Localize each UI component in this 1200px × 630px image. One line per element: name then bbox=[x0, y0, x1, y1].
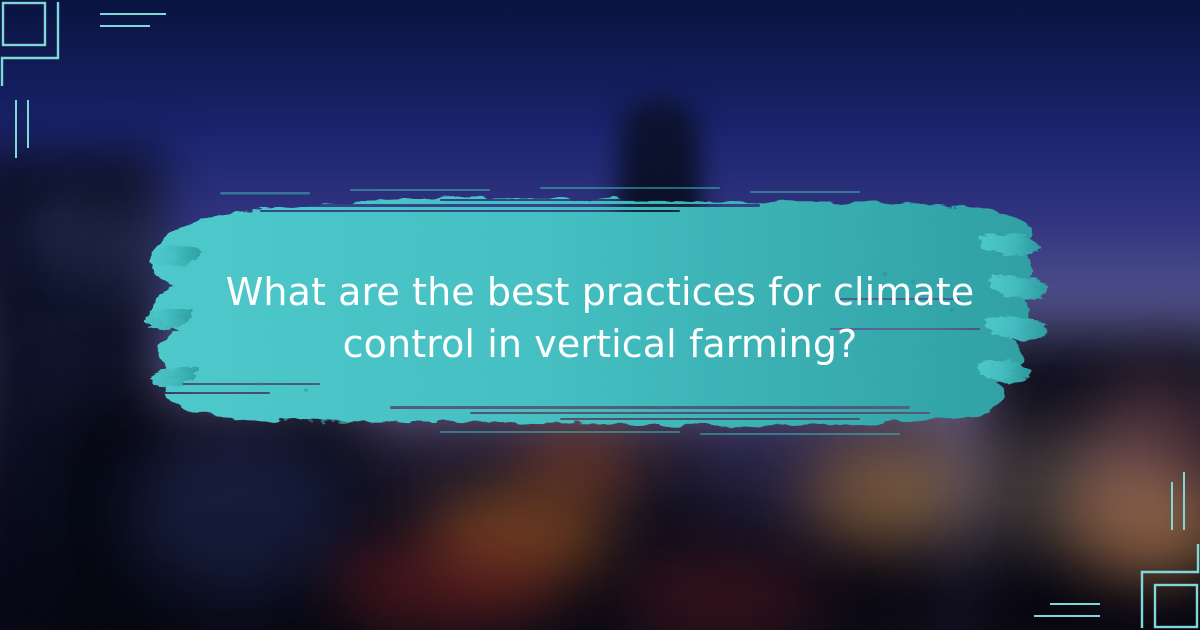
quote-card: What are the best practices for climate … bbox=[0, 0, 1200, 630]
page-title: What are the best practices for climate … bbox=[140, 266, 1060, 370]
headline-banner: What are the best practices for climate … bbox=[140, 178, 1060, 443]
